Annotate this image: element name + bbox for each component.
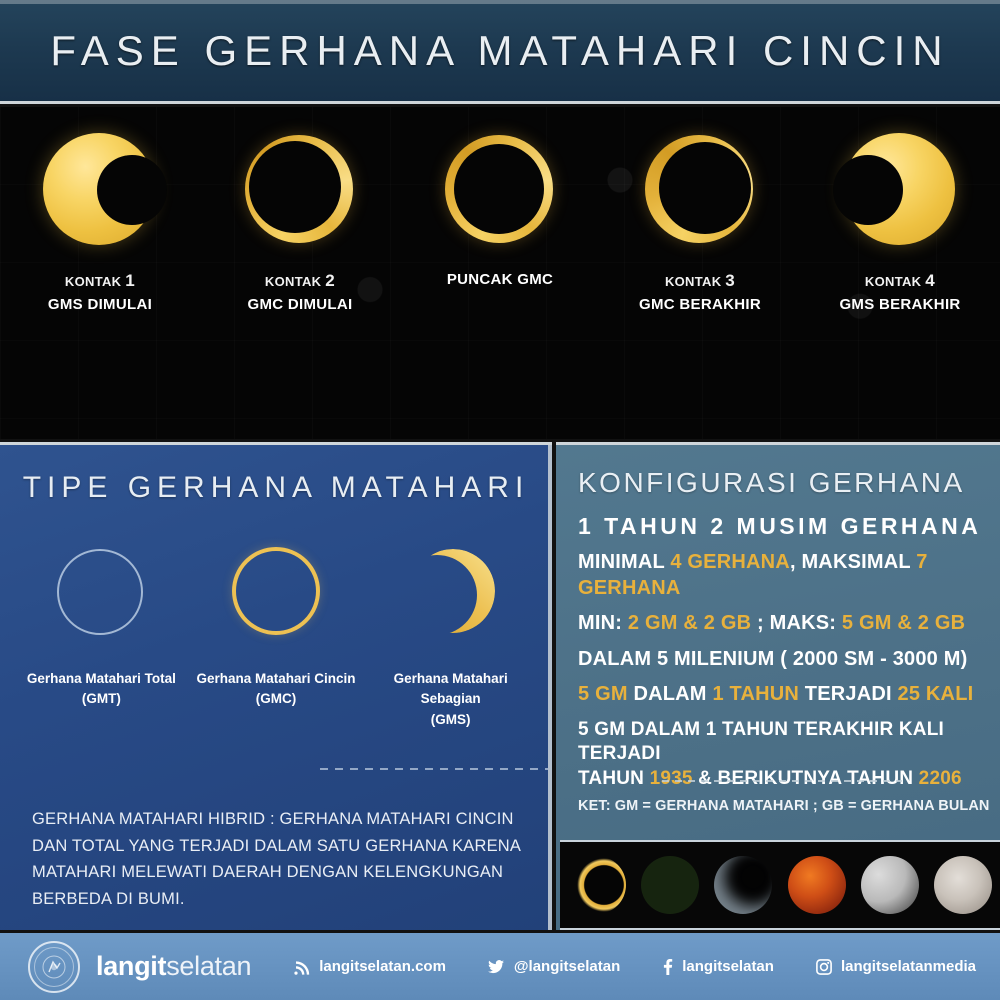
partial-sun-left-icon xyxy=(835,125,965,255)
phase-description: GMS DIMULAI xyxy=(48,294,152,316)
phase-kontak-number: 4 xyxy=(925,271,935,290)
social-link-text: langitselatan xyxy=(682,958,774,975)
line4-part-e: 25 KALI xyxy=(898,683,974,705)
line5-part-e: 2206 xyxy=(919,768,962,789)
line5-part-d: & BERIKUTNYA TAHUN xyxy=(693,768,919,789)
phase-label: KONTAK 3GMC BERAKHIR xyxy=(639,269,761,315)
footer-bar: langitselatan langitselatan.com@langitse… xyxy=(0,933,1000,1000)
phase-kontak-label: KONTAK xyxy=(265,274,325,289)
types-row: Gerhana Matahari Total(GMT)Gerhana Matah… xyxy=(0,543,552,730)
social-link-rss[interactable]: langitselatan.com xyxy=(294,958,446,975)
eclipse-type-abbr: (GMT) xyxy=(82,691,121,706)
brand-wordmark: langitselatan xyxy=(96,951,251,982)
phase-item-3: PUNCAK GMC xyxy=(400,107,600,439)
line4-part-d: TERJADI xyxy=(799,683,897,705)
line5-part-c: 1935 xyxy=(650,768,693,789)
phase-row: KONTAK 1GMS DIMULAIKONTAK 2GMC DIMULAIPU… xyxy=(0,107,1000,439)
line4-part-b: DALAM xyxy=(628,683,713,705)
brand-bold: langit xyxy=(96,951,166,981)
eclipse-type-abbr: (GMC) xyxy=(256,691,297,706)
rss-icon xyxy=(294,959,310,975)
annular-ring-max-icon xyxy=(435,125,565,255)
line2-part-a: MIN: xyxy=(578,612,628,634)
eclipse-type-label: Gerhana Matahari Sebagian(GMS) xyxy=(363,669,538,730)
phase-label: PUNCAK GMC xyxy=(447,269,553,291)
line5-part-b: TAHUN xyxy=(578,768,650,789)
infographic-root: FASE GERHANA MATAHARI CINCIN KONTAK 1GMS… xyxy=(0,0,1000,1000)
phase-kontak-label: KONTAK xyxy=(65,274,125,289)
line2-part-b: 2 GM & 2 GB xyxy=(628,612,751,634)
line1-part-c: , MAKSIMAL xyxy=(790,551,916,573)
phase-label: KONTAK 2GMC DIMULAI xyxy=(248,269,353,315)
eclipse-type-name: Gerhana Matahari Cincin xyxy=(196,671,355,686)
social-link-instagram[interactable]: langitselatanmedia xyxy=(816,958,976,975)
eclipse-photo-strip xyxy=(560,840,1000,930)
phase-kontak-number: 2 xyxy=(325,271,335,290)
total-eclipse-icon xyxy=(51,543,151,643)
line2-part-c: ; MAKS: xyxy=(751,612,842,634)
phase-item-4: KONTAK 3GMC BERAKHIR xyxy=(600,107,800,439)
config-panel-title: KONFIGURASI GERHANA xyxy=(578,467,1000,499)
full-moon-thumb xyxy=(934,856,992,914)
line1-part-b: 4 GERHANA xyxy=(670,551,790,573)
social-link-facebook[interactable]: langitselatan xyxy=(662,958,774,975)
social-link-text: @langitselatan xyxy=(514,958,620,975)
types-panel-title: TIPE GERHANA MATAHARI xyxy=(0,471,552,505)
config-line-2: MIN: 2 GM & 2 GB ; MAKS: 5 GM & 2 GB xyxy=(578,611,1000,637)
eclipse-type-1: Gerhana Matahari Total(GMT) xyxy=(14,543,189,730)
phase-description: GMC BERAKHIR xyxy=(639,294,761,316)
eclipse-type-label: Gerhana Matahari Cincin(GMC) xyxy=(196,669,355,710)
partial-sun-right-icon xyxy=(35,125,165,255)
left-panel-divider xyxy=(320,768,548,770)
social-links: langitselatan.com@langitselatanlangitsel… xyxy=(252,958,976,975)
phase-kontak-number: 1 xyxy=(125,271,135,290)
line5-part-a: 5 GM DALAM 1 TAHUN TERAKHIR KALI TERJADI xyxy=(578,719,944,764)
brand-block[interactable]: langitselatan xyxy=(28,941,251,993)
phase-label: KONTAK 1GMS DIMULAI xyxy=(48,269,152,315)
eclipse-type-name: Gerhana Matahari Sebagian xyxy=(394,671,508,706)
eclipse-phases-section: KONTAK 1GMS DIMULAIKONTAK 2GMC DIMULAIPU… xyxy=(0,107,1000,439)
page-title: FASE GERHANA MATAHARI CINCIN xyxy=(50,27,949,75)
social-link-text: langitselatan.com xyxy=(319,958,446,975)
twitter-icon xyxy=(488,959,505,975)
partial-eclipse-icon xyxy=(401,543,501,643)
phase-item-2: KONTAK 2GMC DIMULAI xyxy=(200,107,400,439)
annular-eclipse-icon xyxy=(226,543,326,643)
hybrid-eclipse-text: GERHANA MATAHARI HIBRID : GERHANA MATAHA… xyxy=(32,806,532,913)
facebook-icon xyxy=(662,959,673,975)
line1-part-a: MINIMAL xyxy=(578,551,670,573)
diamond-ring-thumb xyxy=(714,856,772,914)
annular-crescent-thumb xyxy=(568,856,626,914)
phase-description: GMS BERAKHIR xyxy=(839,294,960,316)
line4-part-a: 5 GM xyxy=(578,683,628,705)
phase-kontak-label: KONTAK xyxy=(865,274,925,289)
phase-item-1: KONTAK 1GMS DIMULAI xyxy=(0,107,200,439)
eclipse-type-abbr: (GMS) xyxy=(431,712,471,727)
config-line-3: DALAM 5 MILENIUM ( 2000 SM - 3000 M) xyxy=(578,647,1000,673)
phase-description: GMC DIMULAI xyxy=(248,294,353,316)
phase-item-5: KONTAK 4GMS BERAKHIR xyxy=(800,107,1000,439)
eclipse-type-3: Gerhana Matahari Sebagian(GMS) xyxy=(363,543,538,730)
annular-ring-icon xyxy=(235,125,365,255)
phase-kontak-label: KONTAK xyxy=(665,274,725,289)
header-bar: FASE GERHANA MATAHARI CINCIN xyxy=(0,0,1000,104)
eclipse-type-label: Gerhana Matahari Total(GMT) xyxy=(27,669,176,710)
phase-kontak-number: 3 xyxy=(725,271,735,290)
line4-part-c: 1 TAHUN xyxy=(712,683,799,705)
right-panel-divider xyxy=(662,780,902,782)
eclipse-type-name: Gerhana Matahari Total xyxy=(27,671,176,686)
social-link-text: langitselatanmedia xyxy=(841,958,976,975)
phase-description: PUNCAK GMC xyxy=(447,269,553,291)
phase-label: KONTAK 4GMS BERAKHIR xyxy=(839,269,960,315)
eclipse-type-2: Gerhana Matahari Cincin(GMC) xyxy=(189,543,364,730)
config-line-4: 5 GM DALAM 1 TAHUN TERJADI 25 KALI xyxy=(578,682,1000,708)
social-link-twitter[interactable]: @langitselatan xyxy=(488,958,620,975)
config-subtitle: 1 TAHUN 2 MUSIM GERHANA xyxy=(578,513,1000,540)
annular-ring-end-icon xyxy=(635,125,765,255)
line2-part-d: 5 GM & 2 GB xyxy=(842,612,965,634)
blood-moon-thumb xyxy=(788,856,846,914)
legend-note: KET: GM = GERHANA MATAHARI ; GB = GERHAN… xyxy=(578,798,998,814)
brand-light: selatan xyxy=(166,951,251,981)
partial-lunar-thumb xyxy=(861,856,919,914)
dark-disc-thumb xyxy=(641,856,699,914)
config-line-1: MINIMAL 4 GERHANA, MAKSIMAL 7 GERHANA xyxy=(578,550,1000,601)
langitselatan-seal-icon xyxy=(28,941,80,993)
instagram-icon xyxy=(816,959,832,975)
